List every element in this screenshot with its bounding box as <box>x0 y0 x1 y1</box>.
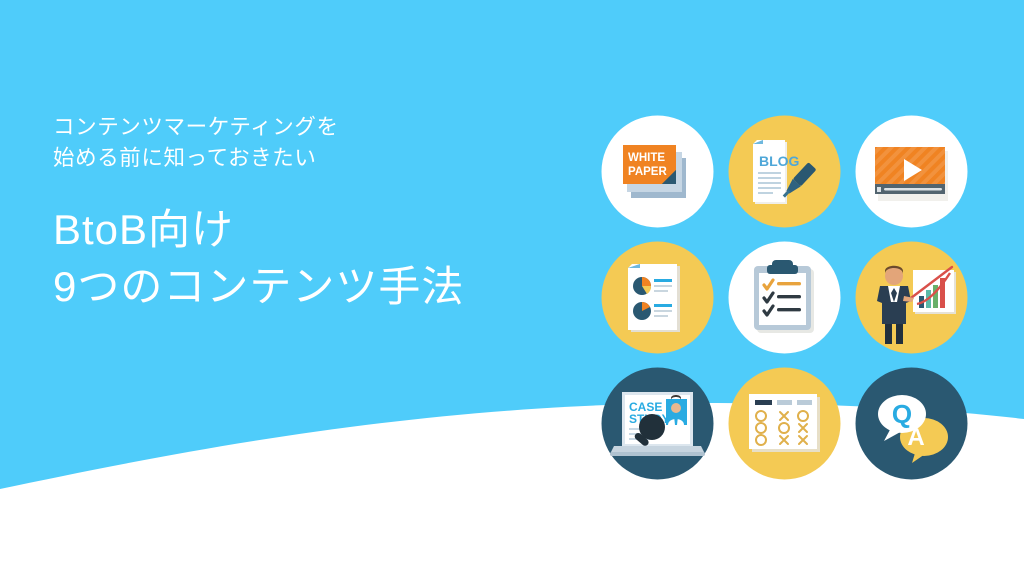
content-method-icon-grid: WHITE PAPER BLOG <box>600 114 980 484</box>
icon-cell-video <box>854 114 969 229</box>
qa-label-q: Q <box>892 399 912 429</box>
slide-canvas: コンテンツマーケティングを 始める前に知っておきたい BtoB向け 9つのコンテ… <box>0 0 1024 576</box>
icon-cell-blog: BLOG <box>727 114 842 229</box>
headline-block: コンテンツマーケティングを 始める前に知っておきたい BtoB向け 9つのコンテ… <box>53 112 573 315</box>
kicker-line-2: 始める前に知っておきたい <box>53 143 573 174</box>
blog-label: BLOG <box>759 153 800 169</box>
white-paper-label-1: WHITE <box>628 152 665 164</box>
title-line-2: 9つのコンテンツ手法 <box>53 258 573 315</box>
kicker-text: コンテンツマーケティングを 始める前に知っておきたい <box>53 112 573 174</box>
white-paper-label-2: PAPER <box>628 166 667 178</box>
icon-cell-report <box>600 240 715 355</box>
icon-cell-case-study: CASE STUDY <box>600 366 715 481</box>
kicker-line-1: コンテンツマーケティングを <box>53 112 573 143</box>
icon-cell-white-paper: WHITE PAPER <box>600 114 715 229</box>
icon-cell-qa: A Q <box>854 366 969 481</box>
title-line-1: BtoB向け <box>53 201 573 258</box>
icon-cell-comparison-table <box>727 366 842 481</box>
page-title: BtoB向け 9つのコンテンツ手法 <box>53 201 573 315</box>
icon-cell-checklist <box>727 240 842 355</box>
icon-cell-seminar <box>854 240 969 355</box>
